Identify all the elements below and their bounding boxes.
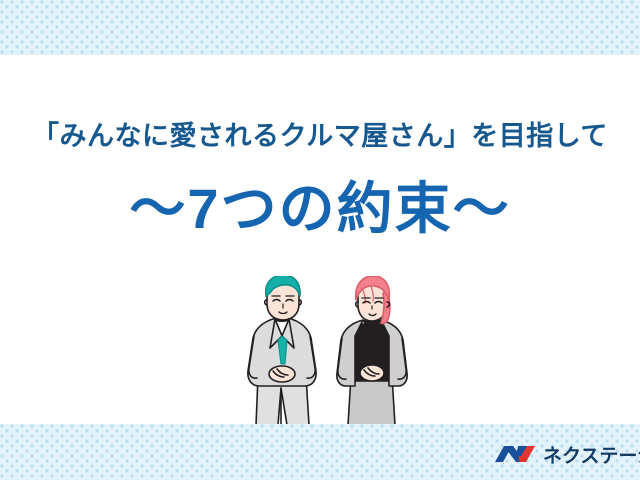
female-staff-figure — [337, 276, 407, 425]
page-title: 「みんなに愛されるクルマ屋さん」を目指して — [0, 118, 640, 154]
two-bowing-staff-illustration — [243, 276, 413, 426]
nexstage-logo: ネクステージ — [494, 438, 640, 470]
nexstage-logo-text: ネクステージ — [543, 441, 640, 468]
banner-page: 「みんなに愛されるクルマ屋さん」を目指して 〜7つの約束〜 — [0, 0, 640, 480]
top-dotted-band — [0, 0, 640, 55]
nexstage-n-logo-icon — [494, 440, 536, 468]
headline-container: 「みんなに愛されるクルマ屋さん」を目指して — [0, 118, 640, 154]
subheadline-container: 〜7つの約束〜 — [0, 176, 640, 242]
male-staff-figure — [248, 276, 316, 425]
page-subtitle: 〜7つの約束〜 — [0, 176, 640, 242]
